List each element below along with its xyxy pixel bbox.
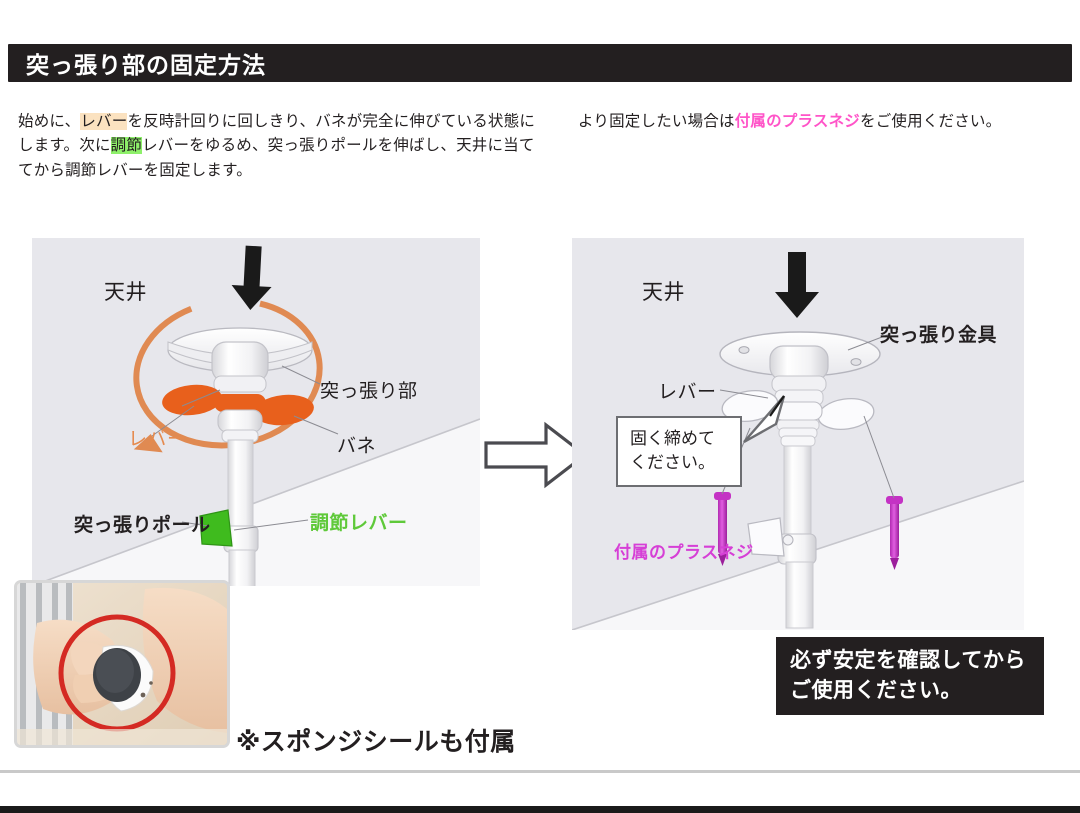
callout-line-1: 固く締めて	[630, 427, 730, 451]
intro-paragraph-right: より固定したい場合は付属のプラスネジをご使用ください。	[578, 110, 1068, 134]
intro-left-seg1: 始めに、	[18, 113, 80, 130]
bottom-edge-bar	[0, 806, 1080, 813]
label-tension-pole: 突っ張りポール	[74, 510, 211, 537]
instruction-page: 突っ張り部の固定方法 始めに、レバーを反時計回りに回しきり、バネが完全に伸びてい…	[0, 0, 1080, 813]
label-tension-section: 突っ張り部	[320, 376, 418, 403]
section-header-bar: 突っ張り部の固定方法	[8, 44, 1072, 82]
label-lever-right: レバー	[658, 377, 717, 404]
label-ceiling-right: 天井	[642, 276, 685, 306]
sponge-seal-photo-image	[17, 583, 227, 745]
intro-right-screw-highlight: 付属のプラスネジ	[735, 113, 860, 130]
page-title: 突っ張り部の固定方法	[26, 46, 266, 80]
intro-left-lever-highlight: レバー	[80, 113, 127, 130]
label-tension-bracket: 突っ張り金具	[880, 320, 997, 347]
diagram-panel-before: 天井 突っ張り部 バネ レバー 突っ張りポール 調節レバー	[32, 238, 480, 586]
label-ceiling-left: 天井	[104, 276, 147, 306]
intro-paragraph-left: 始めに、レバーを反時計回りに回しきり、バネが完全に伸びている状態にします。次に調…	[18, 110, 538, 183]
bottom-divider	[0, 770, 1080, 773]
photo-caption: ※スポンジシールも付属	[236, 722, 516, 758]
warning-line-2: ご使用ください。	[790, 676, 1044, 706]
sponge-seal-photo	[14, 580, 230, 748]
label-included-screw: 付属のプラスネジ	[614, 538, 754, 563]
diagram-panel-after: 固く締めて ください。 天井 突っ張り金具 レバー 付属のプラスネジ	[572, 238, 1024, 630]
intro-right-seg1: より固定したい場合は	[578, 113, 735, 130]
label-spring: バネ	[337, 431, 376, 458]
warning-line-1: 必ず安定を確認してから	[790, 646, 1044, 676]
intro-right-seg3: をご使用ください。	[860, 113, 1001, 130]
callout-line-2: ください。	[630, 451, 730, 475]
safety-warning-box: 必ず安定を確認してから ご使用ください。	[776, 637, 1044, 715]
label-adjust-lever: 調節レバー	[310, 508, 408, 535]
label-lever-left: レバー	[128, 424, 187, 451]
tighten-callout-box: 固く締めて ください。	[616, 416, 742, 487]
intro-left-adjust-highlight: 調節	[111, 137, 142, 154]
